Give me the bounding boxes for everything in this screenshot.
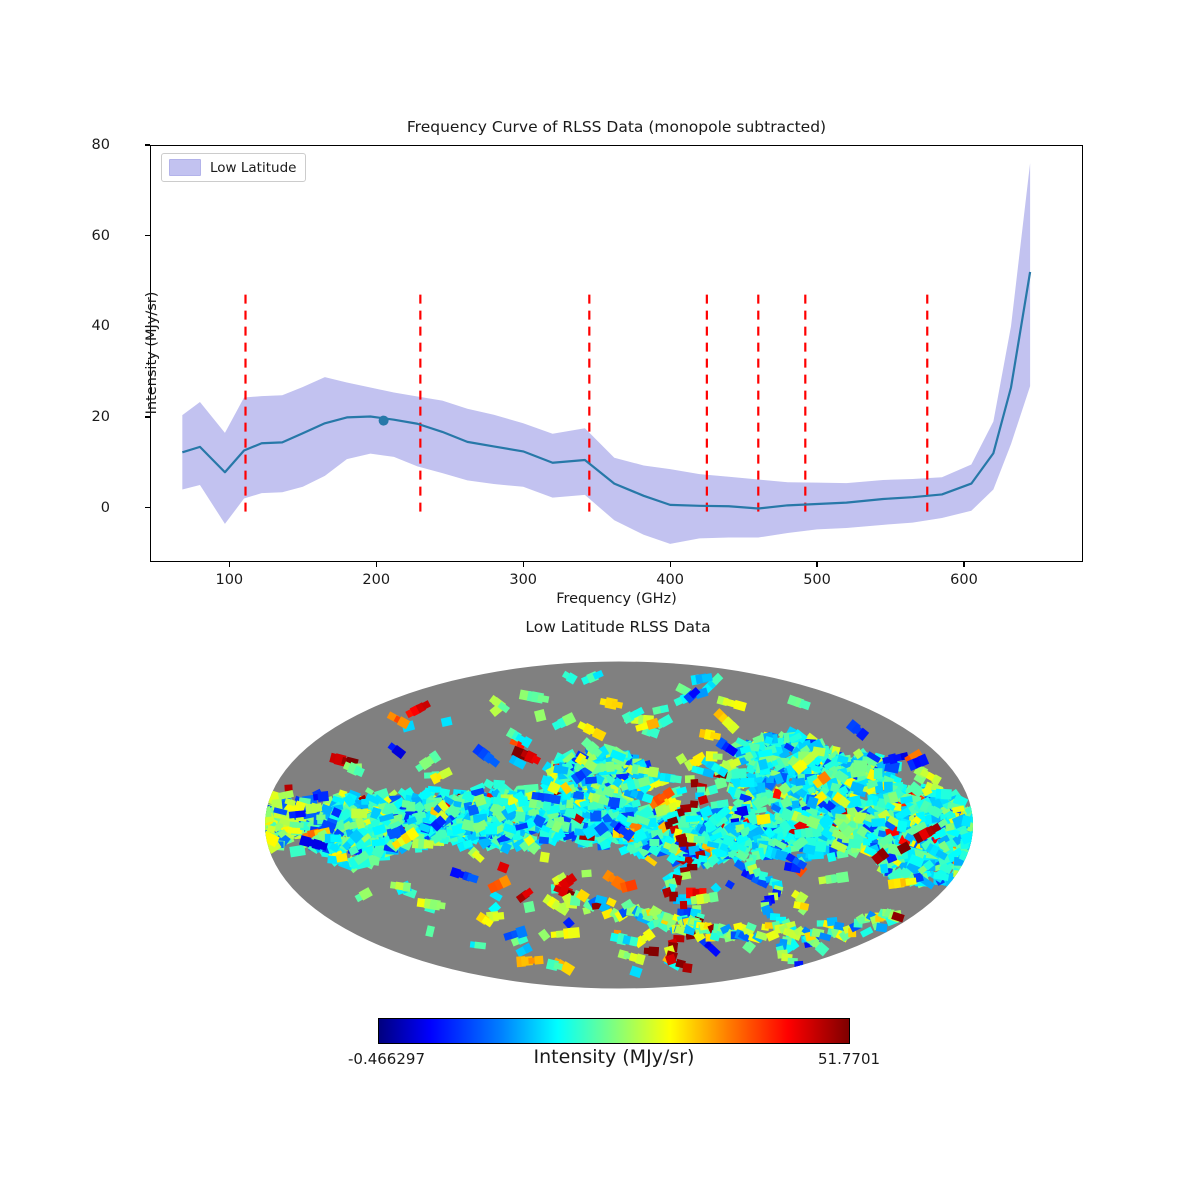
healpix-pixel [713, 753, 723, 760]
healpix-pixel [581, 870, 591, 878]
healpix-pixel [971, 842, 974, 853]
healpix-pixel [686, 815, 702, 822]
healpix-pixel [474, 942, 486, 950]
figure-canvas: Frequency Curve of RLSS Data (monopole s… [0, 0, 1200, 1200]
healpix-pixel [871, 818, 885, 827]
x-tick-mark-300 [523, 562, 524, 567]
mollweide-sky-map [264, 661, 974, 989]
healpix-pixel [682, 963, 692, 973]
healpix-pixel [973, 812, 974, 822]
healpix-pixel [791, 983, 802, 989]
x-tick-label-100: 100 [215, 572, 243, 588]
healpix-pixel [680, 901, 687, 909]
healpix-pixel [312, 803, 323, 813]
healpix-pixel [648, 766, 659, 777]
frequency-curve-title: Frequency Curve of RLSS Data (monopole s… [150, 118, 1083, 136]
healpix-pixel [288, 827, 302, 834]
healpix-pixel [757, 782, 765, 793]
healpix-pixel [492, 912, 504, 920]
healpix-pixel [876, 923, 888, 933]
healpix-pixel [815, 841, 827, 852]
healpix-pixel [765, 922, 773, 928]
x-tick-label-400: 400 [656, 572, 684, 588]
band-polygon [182, 163, 1030, 544]
healpix-pixel [515, 811, 526, 822]
x-tick-label-200: 200 [362, 572, 390, 588]
healpix-pixel [330, 835, 341, 843]
x-tick-mark-400 [670, 562, 671, 567]
healpix-pixel [740, 778, 754, 788]
y-tick-label-60: 60 [92, 228, 110, 244]
healpix-pixel [585, 776, 597, 784]
data-point-marker [379, 416, 389, 426]
healpix-pixel [836, 871, 849, 883]
healpix-pixel [690, 800, 698, 808]
healpix-pixel [800, 976, 809, 986]
healpix-pixel [649, 839, 659, 846]
y-tick-label-80: 80 [92, 137, 110, 153]
x-tick-label-600: 600 [950, 572, 978, 588]
legend: Low Latitude [161, 153, 306, 182]
colorbar-gradient [378, 1018, 850, 1044]
healpix-pixel [424, 840, 434, 849]
healpix-pixel [973, 826, 974, 838]
healpix-pixel [791, 988, 800, 989]
y-axis-label: Intensity (MJy/sr) [144, 203, 160, 503]
healpix-pixel [485, 826, 497, 834]
healpix-pixel [693, 836, 704, 844]
legend-label-low-latitude: Low Latitude [210, 160, 296, 176]
healpix-pixel [792, 801, 800, 809]
healpix-pixel [534, 956, 543, 965]
healpix-pixel [969, 844, 974, 850]
healpix-pixel [874, 768, 883, 779]
healpix-pixel [542, 801, 551, 811]
healpix-pixel [880, 863, 889, 873]
healpix-pixel [794, 961, 803, 968]
healpix-pixel [539, 852, 549, 863]
x-tick-label-500: 500 [803, 572, 831, 588]
x-tick-mark-500 [816, 562, 817, 567]
healpix-pixel [941, 789, 952, 800]
marker-point [379, 416, 389, 426]
y-tick-mark-0 [145, 507, 150, 508]
healpix-pixel [897, 820, 908, 832]
healpix-pixel [317, 791, 329, 802]
healpix-pixel [953, 870, 963, 878]
healpix-pixel [801, 972, 814, 985]
uncertainty-band [182, 163, 1030, 544]
plot-data-svg [150, 145, 1083, 562]
healpix-pixel [372, 839, 386, 847]
frequency-curve-plot: Low Latitude [150, 145, 1083, 562]
healpix-pixel [406, 801, 415, 811]
healpix-pixel [834, 922, 844, 931]
healpix-pixel [678, 837, 687, 847]
healpix-pixel [731, 768, 747, 779]
colorbar-label: Intensity (MJy/sr) [378, 1046, 850, 1068]
healpix-pixel [853, 760, 867, 771]
healpix-pixel [795, 778, 806, 787]
healpix-pixel [606, 761, 615, 772]
y-tick-label-20: 20 [92, 409, 110, 425]
healpix-pixel [800, 964, 808, 971]
y-tick-label-40: 40 [92, 318, 110, 334]
healpix-pixel [436, 902, 445, 910]
healpix-pixel [648, 946, 659, 956]
x-tick-label-300: 300 [509, 572, 537, 588]
healpix-pixel [357, 809, 368, 818]
mollweide-map-svg [264, 661, 974, 989]
healpix-pixel [848, 839, 862, 849]
healpix-pixel [316, 815, 325, 820]
legend-swatch-low-latitude [169, 159, 201, 176]
healpix-pixel [709, 892, 719, 903]
healpix-pixel [608, 797, 620, 808]
x-tick-mark-100 [229, 562, 230, 567]
healpix-pixel [523, 901, 535, 913]
healpix-pixel [794, 980, 806, 989]
healpix-pixel [518, 796, 529, 807]
x-tick-mark-200 [376, 562, 377, 567]
healpix-pixel [804, 969, 814, 979]
healpix-pixel [670, 775, 682, 784]
sky-map-title: Low Latitude RLSS Data [250, 618, 986, 636]
healpix-pixel [973, 845, 974, 858]
healpix-pixel [884, 782, 893, 792]
healpix-pixel [568, 927, 580, 938]
healpix-pixel [905, 878, 916, 886]
healpix-pixel [295, 810, 306, 817]
y-tick-mark-80 [145, 144, 150, 145]
healpix-pixel [801, 965, 813, 977]
y-tick-label-0: 0 [101, 500, 110, 516]
x-axis-label: Frequency (GHz) [150, 591, 1083, 607]
x-tick-mark-600 [963, 562, 964, 567]
healpix-pixel [756, 814, 771, 825]
healpix-pixel [456, 818, 464, 824]
colorbar [378, 1018, 850, 1044]
healpix-pixel [403, 882, 411, 892]
